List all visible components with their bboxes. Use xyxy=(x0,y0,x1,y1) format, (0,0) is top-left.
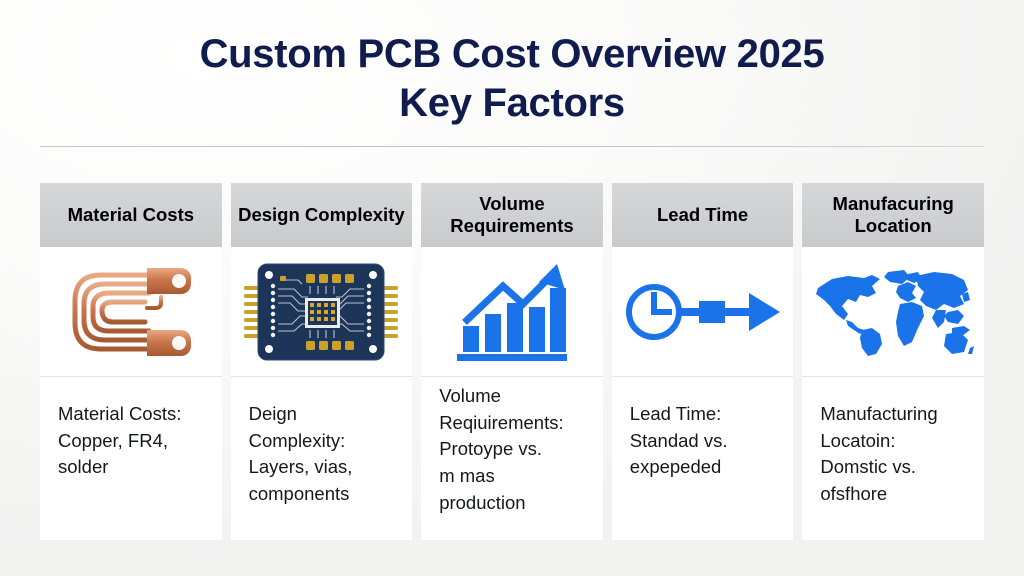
slide-title: Custom PCB Cost Overview 2025 Key Factor… xyxy=(0,0,1024,128)
card-header-label: Manufacuring Location xyxy=(808,193,978,237)
world-map-icon xyxy=(802,247,984,377)
card-lead-time[interactable]: Lead Time Lead Time: Standad vs. expeped… xyxy=(612,183,794,540)
card-body-text: Volume Reqiuirements: Protoype vs. m mas… xyxy=(439,383,589,516)
card-body-text: Material Costs: Copper, FR4, solder xyxy=(58,401,208,481)
clock-timeline-arrow-icon xyxy=(612,247,794,377)
pcb-board-icon xyxy=(231,247,413,377)
card-body-material-costs: Material Costs: Copper, FR4, solder xyxy=(40,377,222,540)
card-body-design-complexity: Deign Complexity: Layers, vias, componen… xyxy=(231,377,413,540)
card-manufacturing-location[interactable]: Manufacuring Location xyxy=(802,183,984,540)
card-material-costs[interactable]: Material Costs xyxy=(40,183,222,540)
card-volume-requirements[interactable]: Volume Requirements Volume Reqiuiremen xyxy=(421,183,603,540)
title-line-1: Custom PCB Cost Overview 2025 xyxy=(0,30,1024,79)
card-header-label: Design Complexity xyxy=(238,204,405,226)
card-header-label: Volume Requirements xyxy=(427,193,597,237)
card-header-label: Lead Time xyxy=(657,204,748,226)
card-header-material-costs: Material Costs xyxy=(40,183,222,247)
factor-cards-row: Material Costs xyxy=(40,183,984,540)
card-body-volume-requirements: Volume Reqiuirements: Protoype vs. m mas… xyxy=(421,377,603,540)
card-body-text: Manufacturing Locatoin: Domstic vs. ofsf… xyxy=(820,401,970,508)
card-header-design-complexity: Design Complexity xyxy=(231,183,413,247)
title-divider xyxy=(40,146,984,147)
card-body-text: Lead Time: Standad vs. expepeded xyxy=(630,401,780,481)
card-body-lead-time: Lead Time: Standad vs. expepeded xyxy=(612,377,794,540)
card-header-manufacturing-location: Manufacuring Location xyxy=(802,183,984,247)
card-body-manufacturing-location: Manufacturing Locatoin: Domstic vs. ofsf… xyxy=(802,377,984,540)
title-line-2: Key Factors xyxy=(0,79,1024,128)
card-header-volume-requirements: Volume Requirements xyxy=(421,183,603,247)
copper-trace-icon xyxy=(40,247,222,377)
growth-bar-chart-icon xyxy=(421,247,603,377)
card-design-complexity[interactable]: Design Complexity xyxy=(231,183,413,540)
card-body-text: Deign Complexity: Layers, vias, componen… xyxy=(249,401,399,508)
card-header-label: Material Costs xyxy=(68,204,194,226)
card-header-lead-time: Lead Time xyxy=(612,183,794,247)
